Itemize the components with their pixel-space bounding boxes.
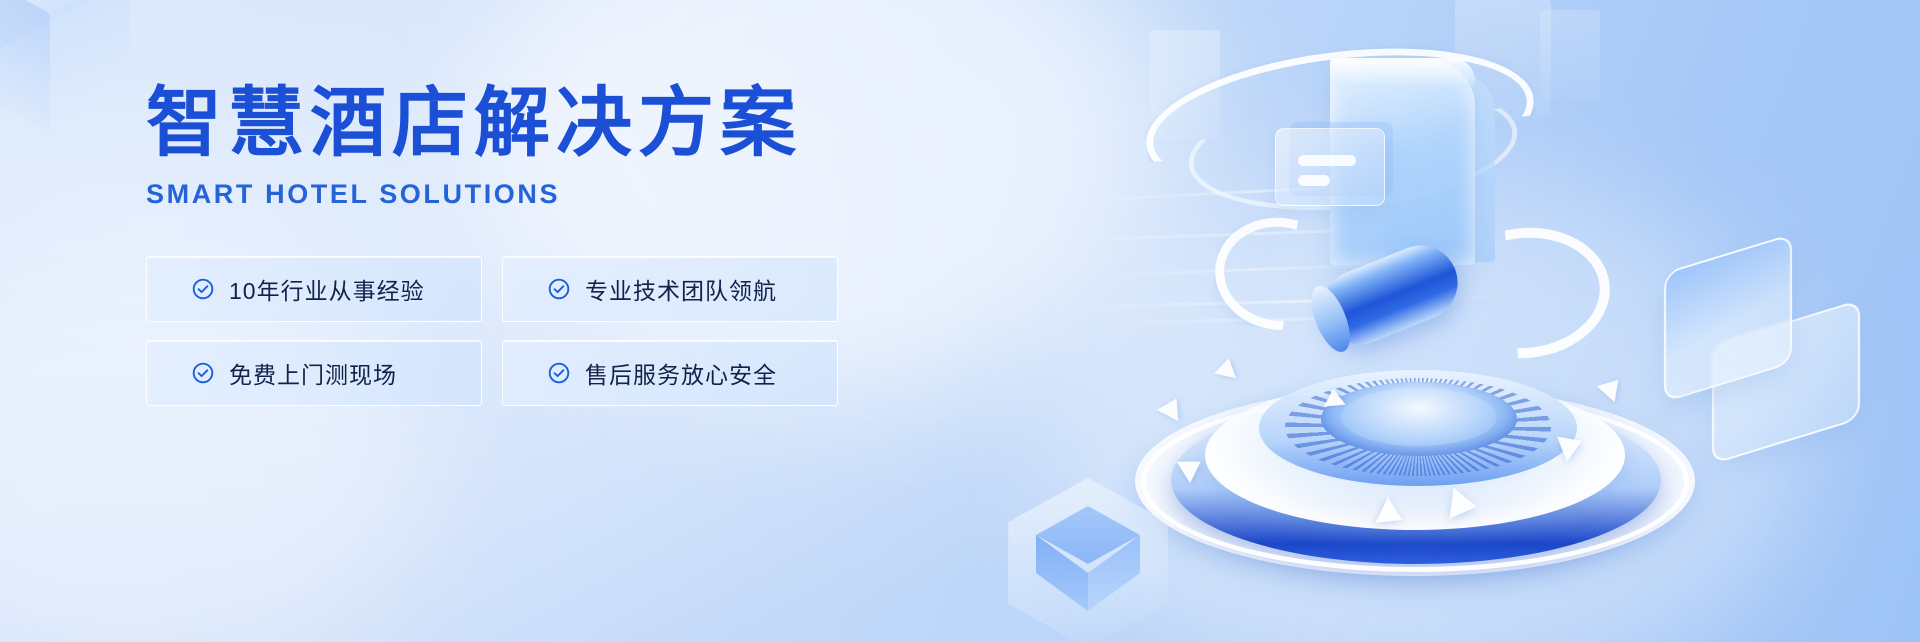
background-block (1150, 30, 1220, 140)
light-streak (1060, 225, 1460, 242)
background-block (1455, 0, 1551, 118)
glass-scroll-icon (1330, 60, 1475, 265)
glass-scroll-lip (1330, 58, 1475, 88)
arrow-chevron-icon (1376, 497, 1409, 533)
arrow-chevron-icon (1449, 488, 1478, 523)
arrow-chevron-icon (1557, 428, 1587, 461)
info-card-bar (1298, 155, 1356, 166)
light-streak (1100, 315, 1460, 324)
background-block (1540, 10, 1600, 100)
light-streak (1105, 263, 1405, 276)
circular-platform-icon (1135, 330, 1695, 580)
arrow-chevron-icon (1597, 372, 1628, 402)
feature-label: 专业技术团队领航 (585, 272, 777, 306)
glow-highlight (1050, 180, 1810, 642)
glass-cube-icon (1008, 478, 1168, 642)
feature-label: 售后服务放心安全 (585, 356, 777, 390)
info-card-icon (1275, 128, 1385, 206)
glass-scroll-back (1385, 72, 1495, 262)
feature-item-3[interactable]: 售后服务放心安全 (502, 340, 838, 406)
info-card-shadow (1289, 122, 1393, 196)
orbital-ring-icon (1183, 71, 1524, 225)
feature-item-2[interactable]: 免费上门测现场 (146, 340, 482, 406)
light-streak (1090, 181, 1420, 201)
feature-item-0[interactable]: 10年行业从事经验 (146, 256, 482, 322)
arrow-chevron-icon (1157, 393, 1187, 421)
light-streak (1080, 295, 1510, 309)
arrow-chevron-icon (1322, 387, 1345, 406)
arrow-chevron-icon (1214, 356, 1240, 378)
info-card-bar (1298, 175, 1330, 186)
glass-card-back-icon (1712, 299, 1860, 464)
page-subtitle: SMART HOTEL SOLUTIONS (146, 179, 900, 210)
feature-label: 10年行业从事经验 (229, 272, 425, 306)
check-circle-icon (191, 361, 215, 385)
check-circle-icon (547, 361, 571, 385)
glass-band-icon (1434, 219, 1617, 366)
blue-cylinder-icon (1311, 234, 1469, 355)
hero-banner: 智慧酒店解决方案 SMART HOTEL SOLUTIONS 10年行业从事经验… (0, 0, 1920, 642)
orbital-ring-icon (1138, 29, 1542, 215)
glass-band-icon (1208, 209, 1352, 338)
feature-label: 免费上门测现场 (229, 356, 397, 390)
banner-content: 智慧酒店解决方案 SMART HOTEL SOLUTIONS 10年行业从事经验… (0, 0, 900, 642)
arrow-chevron-icon (1177, 451, 1208, 483)
check-circle-icon (547, 277, 571, 301)
glass-card-front-icon (1664, 233, 1792, 402)
feature-item-1[interactable]: 专业技术团队领航 (502, 256, 838, 322)
page-title: 智慧酒店解决方案 (146, 84, 900, 165)
check-circle-icon (191, 277, 215, 301)
feature-list: 10年行业从事经验 专业技术团队领航 免费上门测现场 (146, 256, 846, 406)
